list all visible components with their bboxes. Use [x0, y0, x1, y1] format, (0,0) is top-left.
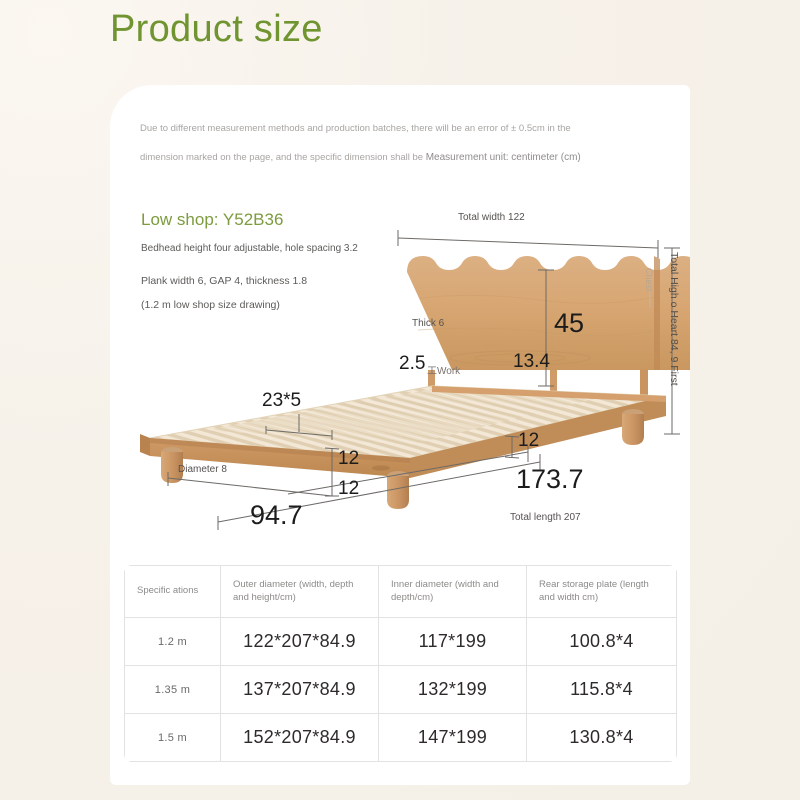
table-header-rear-storage-plate: Rear storage plate (length and width cm)	[527, 566, 677, 618]
label-inner-length-right: 173.7	[516, 464, 584, 495]
page-title: Product size	[110, 8, 323, 51]
label-rail-height-right: 12	[518, 430, 539, 452]
table-head: Specific ations Outer diameter (width, d…	[125, 566, 677, 618]
cell-spec: 1.2 m	[125, 618, 221, 666]
label-work-suffix: 工Work	[427, 362, 460, 377]
cell-rear: 100.8*4	[527, 618, 677, 666]
table-row: 1.35 m 137*207*84.9 132*199 115.8*4	[125, 666, 677, 714]
label-total-height: Total High o Heart 84, 9 First	[668, 252, 680, 442]
label-work-thickness: 2.5	[399, 353, 425, 375]
bed-illustration	[110, 190, 690, 560]
cell-outer: 137*207*84.9	[221, 666, 379, 714]
label-slat-spacing: 23*5	[262, 390, 301, 412]
label-total-length: Total length 207	[510, 512, 581, 523]
disclaimer-line-2: dimension marked on the page, and the sp…	[140, 152, 423, 163]
cell-rear: 130.8*4	[527, 714, 677, 762]
label-rail-height-lower: 12	[338, 478, 359, 500]
cell-inner: 147*199	[379, 714, 527, 762]
table-header-row: Specific ations Outer diameter (width, d…	[125, 566, 677, 618]
cell-outer: 122*207*84.9	[221, 618, 379, 666]
table-row: 1.5 m 152*207*84.9 147*199 130.8*4	[125, 714, 677, 762]
label-total-width: Total width 122	[458, 212, 525, 223]
cell-inner: 132*199	[379, 666, 527, 714]
bed-dimension-drawing: Total width 122 45 Thick 6 2.5 工Work 13.…	[110, 190, 690, 560]
label-leg-diameter: Diameter 8	[178, 464, 227, 475]
cell-inner: 117*199	[379, 618, 527, 666]
table-header-outer-diameter: Outer diameter (width, depth and height/…	[221, 566, 379, 618]
cell-spec: 1.5 m	[125, 714, 221, 762]
table-body: 1.2 m 122*207*84.9 117*199 100.8*4 1.35 …	[125, 618, 677, 762]
disclaimer-line-1: Due to different measurement methods and…	[140, 115, 680, 143]
label-rail-height-upper: 12	[338, 448, 359, 470]
table-row: 1.2 m 122*207*84.9 117*199 100.8*4	[125, 618, 677, 666]
label-thick: Thick 6	[412, 318, 444, 329]
table-header-specifications: Specific ations	[125, 566, 221, 618]
label-inner-length-left: 94.7	[250, 500, 303, 531]
table-header-inner-diameter: Inner diameter (width and depth/cm)	[379, 566, 527, 618]
disclaimer-block: Due to different measurement methods and…	[140, 115, 680, 172]
specifications-table: Specific ations Outer diameter (width, d…	[124, 565, 677, 762]
label-headboard-clearance: 13.4	[513, 351, 550, 373]
label-headboard-height: 45	[554, 308, 584, 339]
cell-outer: 152*207*84.9	[221, 714, 379, 762]
cell-rear: 115.8*4	[527, 666, 677, 714]
cell-spec: 1.35 m	[125, 666, 221, 714]
label-chest-faint: Chest	[644, 268, 654, 312]
measurement-unit-note: Measurement unit: centimeter (cm)	[426, 152, 581, 163]
disclaimer-line-2-row: dimension marked on the page, and the sp…	[140, 143, 680, 172]
rail-hardware	[372, 465, 390, 470]
